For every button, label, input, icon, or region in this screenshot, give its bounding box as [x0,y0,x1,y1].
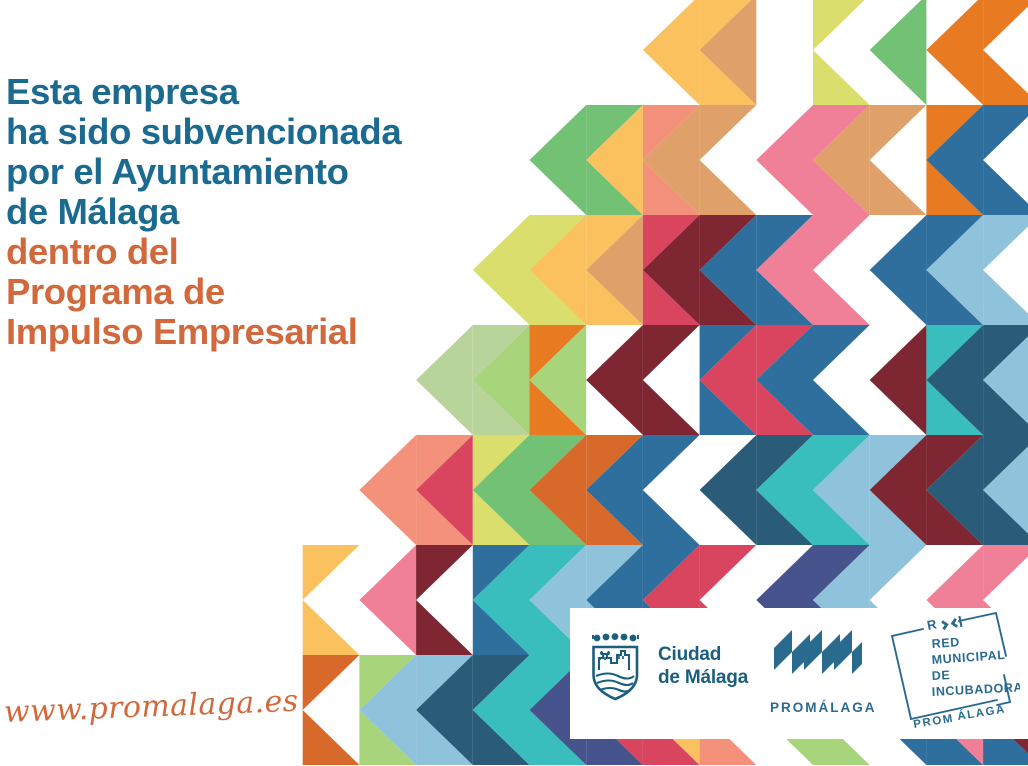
headline-line-3: por el Ayuntamiento [6,154,476,191]
promalaga-wordmark: PROMÁLAGA [770,700,877,715]
mosaic-triangle [643,490,700,545]
mosaic-triangle [643,380,700,435]
mosaic-triangle [586,325,643,435]
svg-text:ÁLAGA: ÁLAGA [956,702,1006,722]
mosaic-triangle [870,215,927,325]
shield-crown-icon [588,630,646,702]
municipal-line: MUNICIPAL [931,648,1006,667]
promalaga-subsidy-poster: Esta empresaha sido subvencionadapor el … [0,0,1028,766]
mosaic-triangle [870,105,927,160]
mosaic-triangle [813,50,870,105]
logo-ciudad-de-malaga: Ciudad de Málaga [588,630,748,702]
headline-line-6: Programa de [6,274,476,311]
rmi-tag: R [926,616,940,633]
logo-promalaga: PROMÁLAGA [770,626,877,715]
mosaic-triangle [813,270,870,325]
mosaic-triangle [870,545,927,600]
headline-line-1: Esta empresa [6,74,476,111]
bracket-frame-icon: R RED MUNICIPAL DE INCUBADORAS PROM ÁLAG… [880,612,1020,736]
mosaic-triangle [813,325,870,380]
red-promalaga-wordmark: PROM [913,713,955,731]
mosaic-triangle [756,105,813,215]
mosaic-triangle [700,545,757,600]
incubadoras-line: INCUBADORAS [931,680,1020,699]
logo-card: Ciudad de Málaga PROMÁLAGA [570,608,1028,739]
page-title: Esta empresaha sido subvencionadapor el … [6,74,476,354]
mosaic-triangle [303,545,360,600]
mosaic-triangle [416,600,473,655]
mosaic-triangle [303,710,360,765]
mosaic-triangle [359,435,416,545]
mosaic-triangle [983,50,1028,105]
mosaic-triangle [473,215,530,325]
mosaic-triangle [700,105,757,160]
mosaic-triangle [643,435,700,490]
mosaic-triangle [983,215,1028,270]
headline-line-4: de Málaga [6,194,476,231]
ciudad-line-2: de Málaga [658,666,748,689]
ciudad-de-malaga-wordmark: Ciudad de Málaga [658,643,748,689]
logo-red-municipal-incubadoras: R RED MUNICIPAL DE INCUBADORAS PROM ÁLAG… [880,612,1020,741]
mosaic-triangle [530,105,587,215]
mosaic-triangle [303,600,360,655]
red-line: RED [931,635,960,651]
mosaic-triangle [870,160,927,215]
mosaic-triangle [813,0,870,50]
mosaic-triangle [870,325,927,435]
mosaic-triangle [303,655,360,710]
mosaic-triangle [983,0,1028,50]
headline-line-7: Impulso Empresarial [6,314,476,351]
mosaic-triangle [983,105,1028,160]
mosaic-triangle [359,545,416,655]
mosaic-triangle [926,0,983,105]
headline-line-5: dentro del [6,234,476,271]
mosaic-triangle [983,545,1028,600]
mosaic-triangle [700,435,757,545]
mosaic-triangle [700,160,757,215]
headline-line-2: ha sido subvencionada [6,114,476,151]
mosaic-triangle [813,215,870,270]
mosaic-triangle [643,0,700,105]
mosaic-triangle [643,325,700,380]
promalaga-zigzag-icon [770,626,866,692]
ciudad-line-1: Ciudad [658,643,748,666]
mosaic-triangle [416,545,473,600]
mosaic-triangle [870,0,927,105]
de-line: DE [931,668,950,683]
mosaic-triangle [983,160,1028,215]
mosaic-triangle [813,380,870,435]
mosaic-triangle [983,270,1028,325]
